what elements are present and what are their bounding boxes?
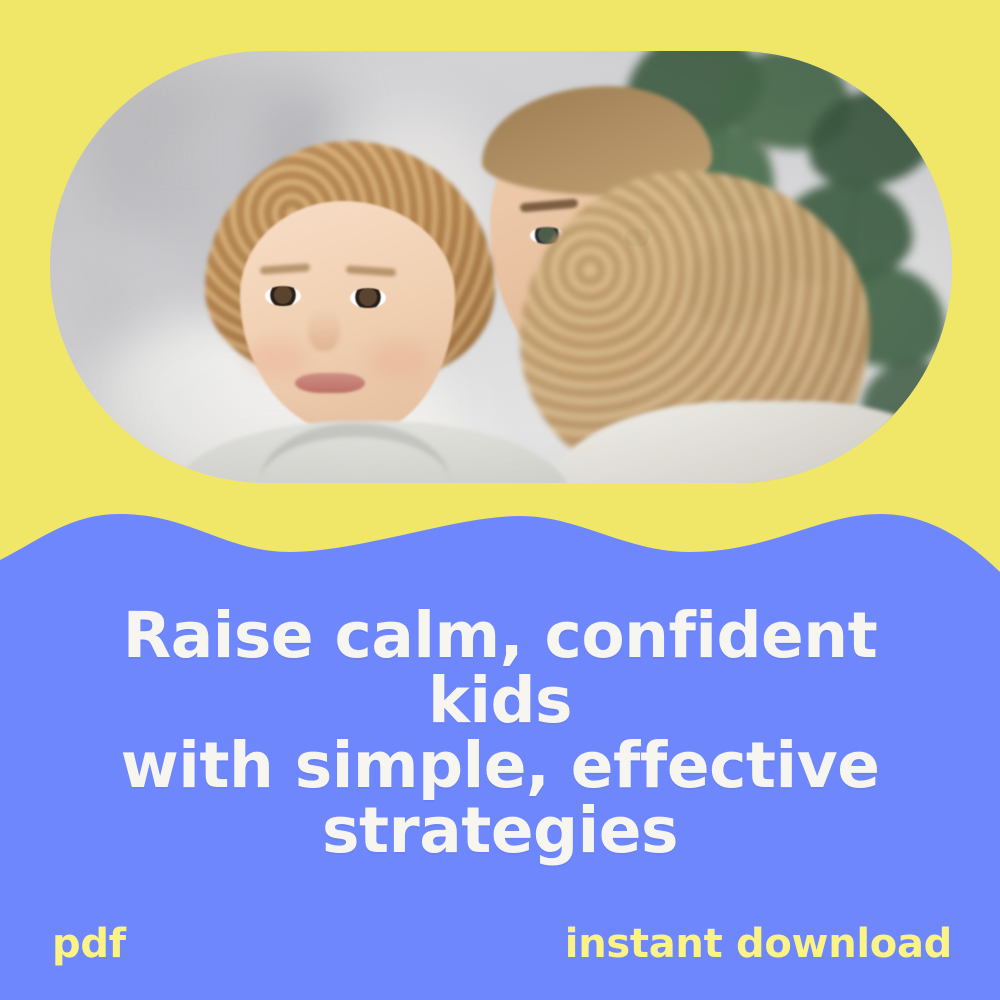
delivery-label: instant download xyxy=(565,924,952,964)
headline-line-1: Raise calm, confident kids xyxy=(40,604,960,734)
photo-vignette xyxy=(50,51,952,483)
promo-card-canvas: Raise calm, confident kids with simple, … xyxy=(0,0,1000,1000)
mother-and-toddler-photo xyxy=(50,51,952,483)
headline-line-3: strategies xyxy=(40,799,960,864)
page-title: Raise calm, confident kids with simple, … xyxy=(0,604,1000,864)
hero-image-frame xyxy=(50,51,952,483)
headline-line-2: with simple, effective xyxy=(40,734,960,799)
format-label: pdf xyxy=(52,924,126,964)
